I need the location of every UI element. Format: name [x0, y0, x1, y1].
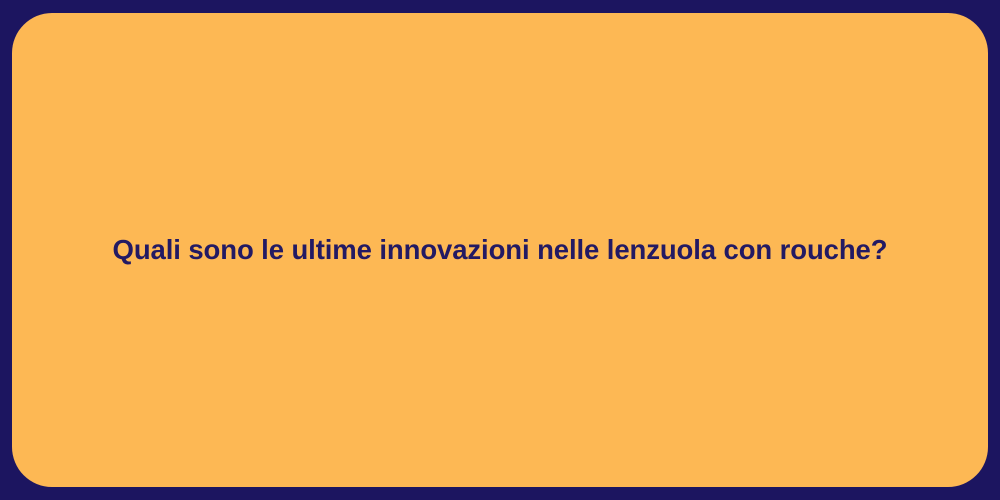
- banner-panel: Quali sono le ultime innovazioni nelle l…: [12, 13, 988, 487]
- banner-frame: Quali sono le ultime innovazioni nelle l…: [0, 0, 1000, 500]
- banner-heading: Quali sono le ultime innovazioni nelle l…: [73, 233, 928, 267]
